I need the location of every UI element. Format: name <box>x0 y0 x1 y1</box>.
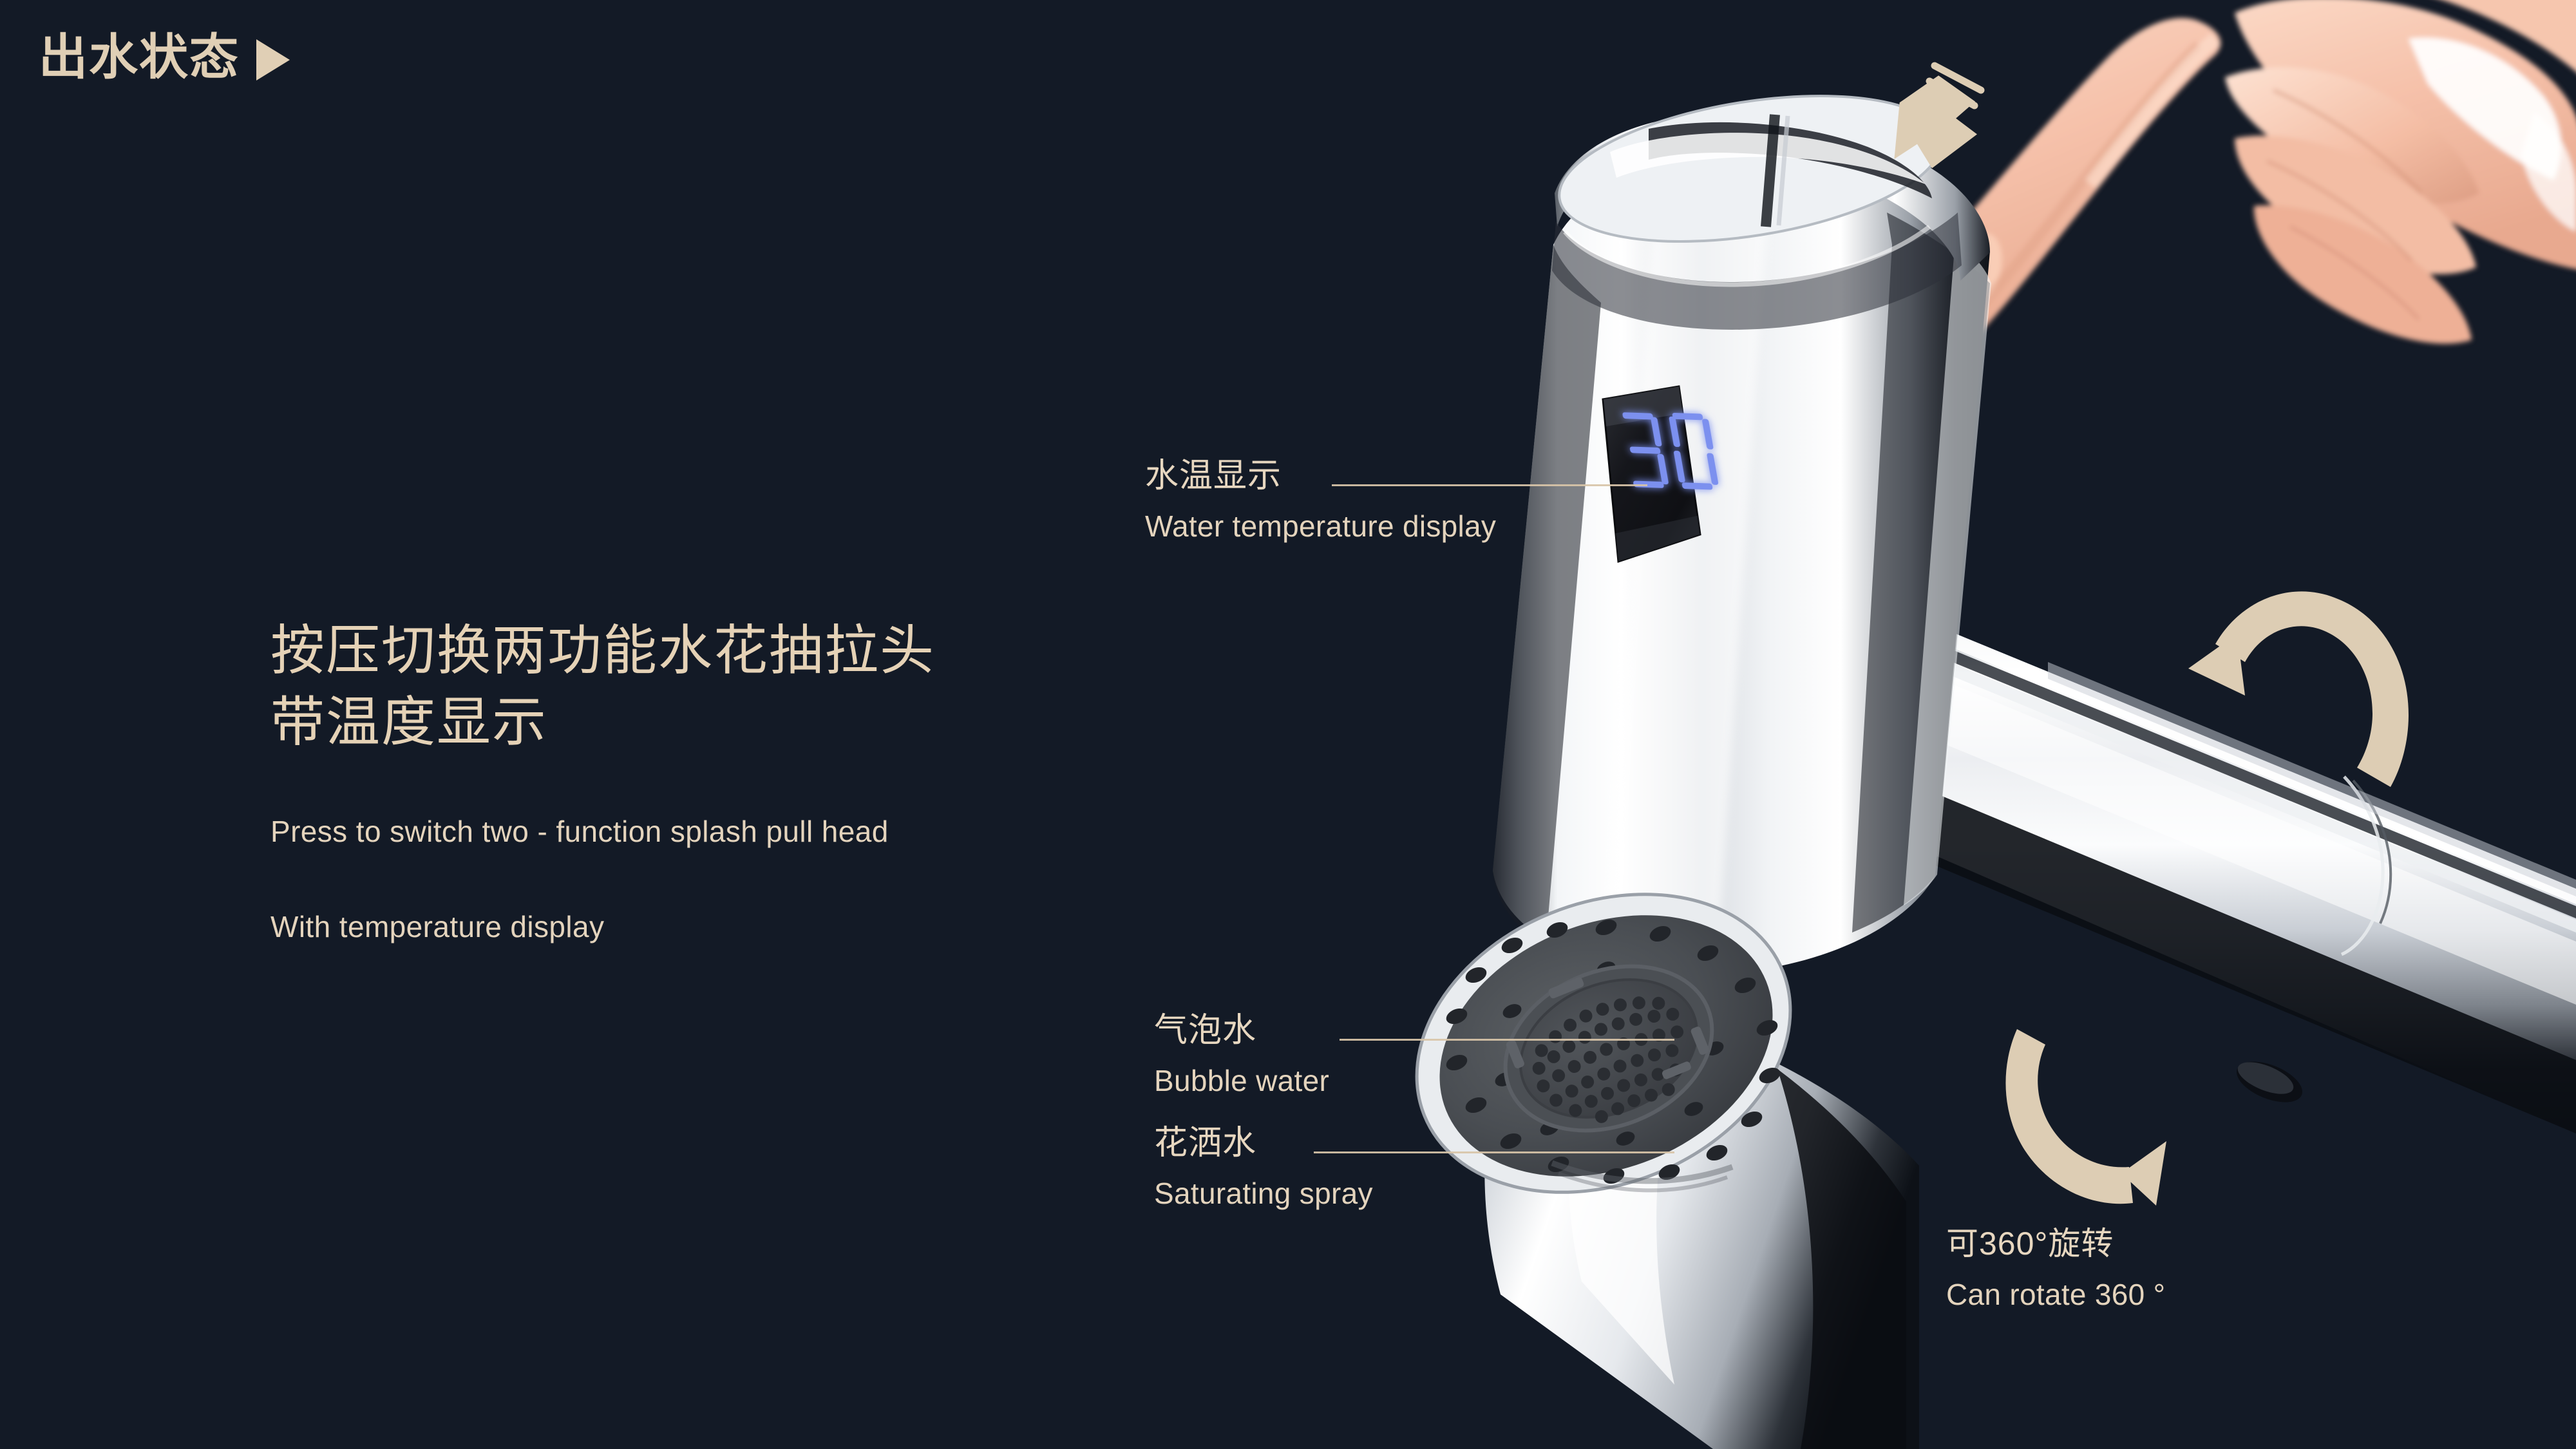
hand-finger-photo <box>1901 0 2576 354</box>
leader-line-saturating-spray <box>1314 1151 1674 1153</box>
headline-cn-line1: 按压切换两功能水花抽拉头 <box>270 615 1204 687</box>
callout-water-temperature-cn: 水温显示 <box>1145 459 1496 494</box>
temperature-value <box>1620 411 1721 490</box>
headline-en-line2: With temperature display <box>270 906 1204 949</box>
callout-saturating-spray-en: Saturating spray <box>1154 1178 1373 1209</box>
headline-block: 按压切换两功能水花抽拉头 带温度显示 Press to switch two -… <box>270 615 1204 948</box>
callout-rotate-360-en: Can rotate 360 ° <box>1946 1279 2165 1310</box>
page-title: 出水状态 <box>39 33 240 82</box>
product-feature-slide: 出水状态 按压切换两功能水花抽拉头 带温度显示 Press to switch … <box>0 0 2576 1449</box>
aerator-mesh <box>1517 977 1707 1141</box>
spray-nozzle-face <box>1372 840 1835 1245</box>
callout-bubble-water: 气泡水 Bubble water <box>1154 1013 1329 1096</box>
callout-water-temperature: 水温显示 Water temperature display <box>1145 459 1496 542</box>
callout-bubble-water-en: Bubble water <box>1154 1065 1329 1096</box>
press-down-arrow-icon <box>1891 66 1985 174</box>
rotate-clockwise-arrow-icon <box>2005 1029 2166 1206</box>
headline-en-line1: Press to switch two - function splash pu… <box>270 811 1204 853</box>
faucet-sleeve <box>1484 1005 1919 1449</box>
faucet-arm <box>1871 599 2576 1133</box>
shower-holes <box>1444 916 1783 1186</box>
headline-cn-line2: 带温度显示 <box>270 687 1204 758</box>
callout-water-temperature-en: Water temperature display <box>1145 511 1496 542</box>
push-button-collar <box>1549 72 1990 330</box>
leader-line-bubble-water <box>1340 1039 1674 1041</box>
callout-saturating-spray: 花洒水 Saturating spray <box>1154 1126 1373 1209</box>
temperature-display-panel <box>1603 383 1721 571</box>
callout-bubble-water-cn: 气泡水 <box>1154 1013 1329 1048</box>
play-triangle-icon <box>256 39 290 80</box>
callout-rotate-360-cn: 可360°旋转 <box>1946 1227 2165 1261</box>
leader-line-water-temperature <box>1332 484 1647 486</box>
callout-saturating-spray-cn: 花洒水 <box>1154 1126 1373 1161</box>
rotate-counterclockwise-arrow-icon <box>2188 591 2409 787</box>
callout-rotate-360: 可360°旋转 Can rotate 360 ° <box>1946 1227 2165 1310</box>
section-header: 出水状态 <box>39 33 290 82</box>
faucet-spout-body <box>1493 174 1991 975</box>
